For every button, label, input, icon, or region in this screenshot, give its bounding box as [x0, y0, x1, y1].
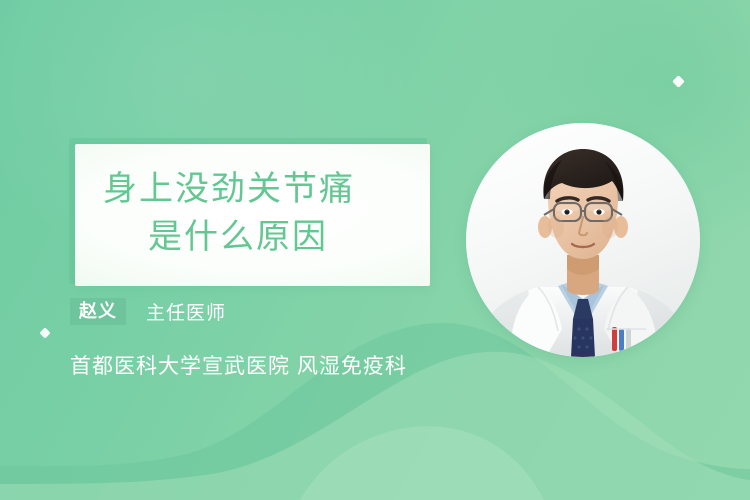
doctor-name-row: 赵义 主任医师 [70, 296, 490, 326]
article-title-line-1: 身上没劲关节痛 [75, 165, 430, 213]
doctor-portrait-illustration [466, 123, 700, 357]
doctor-info-block: 赵义 主任医师 首都医科大学宣武医院 风湿免疫科 [70, 296, 490, 380]
article-title-line-2: 是什么原因 [75, 213, 430, 261]
doctor-professional-title: 主任医师 [146, 298, 226, 325]
article-cover-card: 身上没劲关节痛 是什么原因 赵义 主任医师 首都医科大学宣武医院 风湿免疫科 [0, 0, 750, 500]
doctor-portrait [466, 123, 700, 357]
doctor-name-badge: 赵义 [70, 298, 126, 325]
doctor-hospital-department: 首都医科大学宣武医院 风湿免疫科 [70, 350, 490, 380]
title-plate: 身上没劲关节痛 是什么原因 [75, 144, 430, 286]
